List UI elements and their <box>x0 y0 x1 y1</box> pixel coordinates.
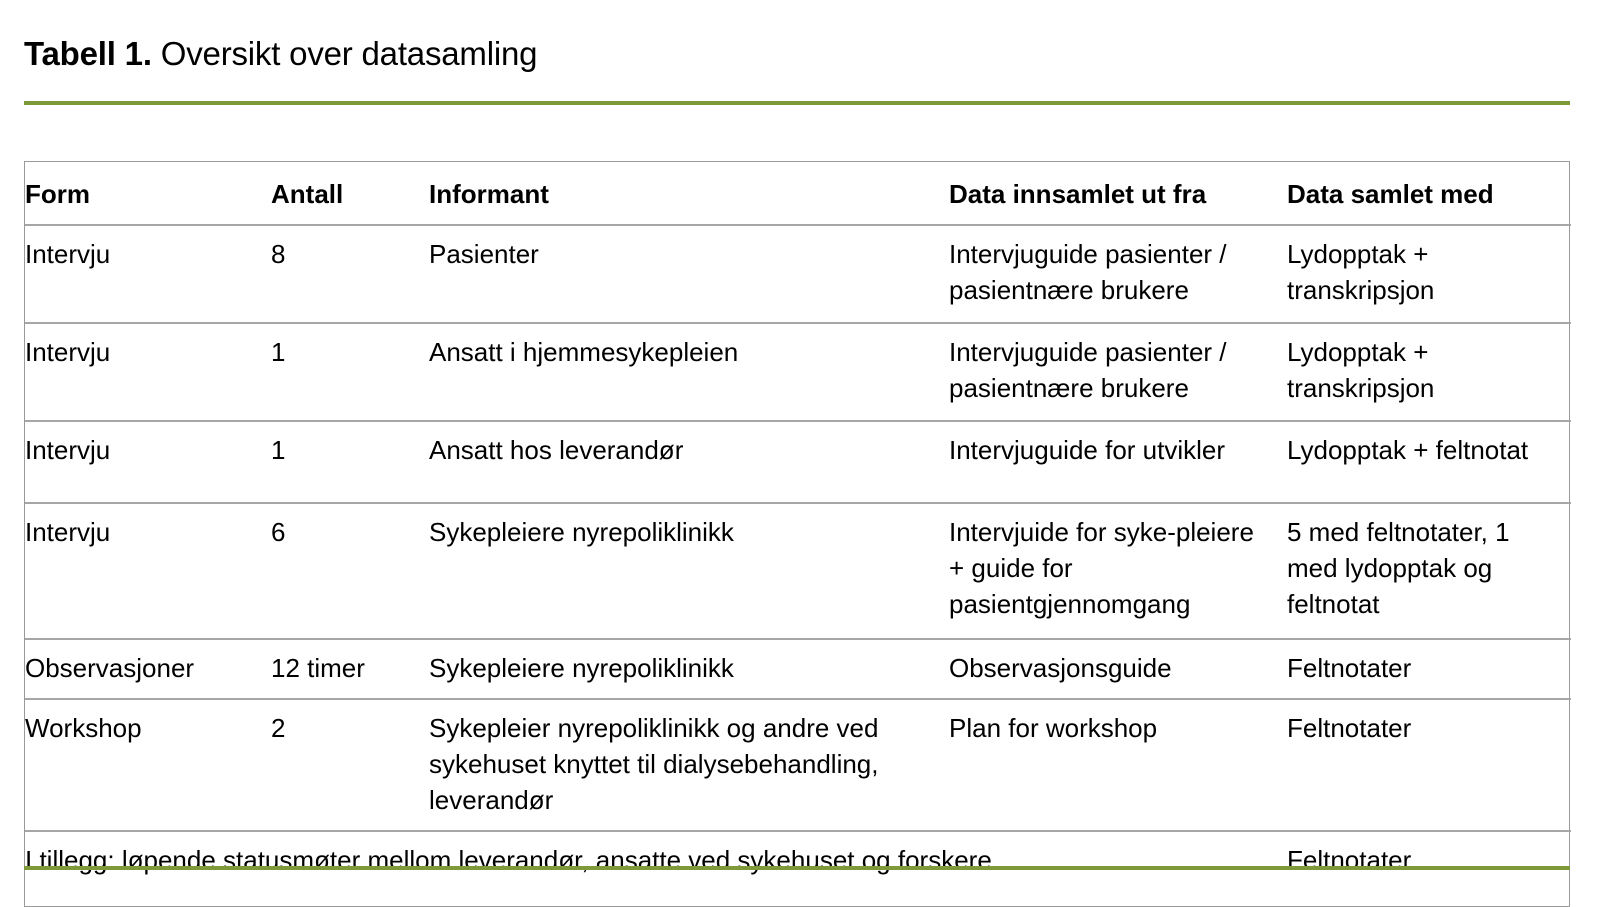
cell-kilde: Intervjuguide for utvikler <box>949 421 1287 503</box>
cell-metode: Lydopptak + transkripsjon <box>1287 225 1571 323</box>
cell-informant: Ansatt i hjemmesykepleien <box>429 323 949 421</box>
table-row: Intervju 6 Sykepleiere nyrepoliklinikk I… <box>25 503 1571 639</box>
cell-form: Workshop <box>25 699 271 831</box>
cell-kilde: Intervjuguide pasienter / pasientnære br… <box>949 323 1287 421</box>
cell-antall: 12 timer <box>271 639 429 699</box>
cell-form: Intervju <box>25 503 271 639</box>
column-header-form: Form <box>25 162 271 225</box>
cell-informant: Sykepleier nyrepoliklinikk og andre ved … <box>429 699 949 831</box>
table-page: Tabell 1. Oversikt over datasamling Form… <box>0 0 1600 904</box>
column-header-data-samlet-med: Data samlet med <box>1287 162 1571 225</box>
table-row: Intervju 8 Pasienter Intervjuguide pasie… <box>25 225 1571 323</box>
table-row: Intervju 1 Ansatt hos leverandør Intervj… <box>25 421 1571 503</box>
cell-metode: 5 med feltnotater, 1 med lydopptak og fe… <box>1287 503 1571 639</box>
bottom-divider-rule <box>24 866 1570 870</box>
cell-antall: 1 <box>271 323 429 421</box>
column-header-data-innsamlet-ut-fra: Data innsamlet ut fra <box>949 162 1287 225</box>
cell-antall: 8 <box>271 225 429 323</box>
caption-label: Tabell 1. <box>24 35 152 72</box>
caption-text: Oversikt over datasamling <box>152 35 537 72</box>
cell-kilde: Intervjuguide pasienter / pasientnære br… <box>949 225 1287 323</box>
cell-kilde: Plan for workshop <box>949 699 1287 831</box>
cell-metode: Feltnotater <box>1287 639 1571 699</box>
cell-form: Intervju <box>25 323 271 421</box>
top-divider-rule <box>24 101 1570 105</box>
cell-metode: Lydopptak + transkripsjon <box>1287 323 1571 421</box>
table-row: Workshop 2 Sykepleier nyrepoliklinikk og… <box>25 699 1571 831</box>
data-collection-table: Form Antall Informant Data innsamlet ut … <box>24 161 1570 907</box>
table-header-row: Form Antall Informant Data innsamlet ut … <box>25 162 1571 225</box>
cell-antall: 6 <box>271 503 429 639</box>
cell-antall: 2 <box>271 699 429 831</box>
cell-informant: Ansatt hos leverandør <box>429 421 949 503</box>
cell-form: Observasjoner <box>25 639 271 699</box>
cell-form: Intervju <box>25 421 271 503</box>
page-title: Tabell 1. Oversikt over datasamling <box>24 34 537 74</box>
cell-informant: Sykepleiere nyrepoliklinikk <box>429 503 949 639</box>
column-header-informant: Informant <box>429 162 949 225</box>
cell-metode: Lydopptak + feltnotat <box>1287 421 1571 503</box>
cell-informant: Pasienter <box>429 225 949 323</box>
column-header-antall: Antall <box>271 162 429 225</box>
cell-metode: Feltnotater <box>1287 699 1571 831</box>
cell-kilde: Intervjuide for syke-pleiere + guide for… <box>949 503 1287 639</box>
cell-kilde: Observasjonsguide <box>949 639 1287 699</box>
cell-form: Intervju <box>25 225 271 323</box>
table-row: Intervju 1 Ansatt i hjemmesykepleien Int… <box>25 323 1571 421</box>
cell-informant: Sykepleiere nyrepoliklinikk <box>429 639 949 699</box>
cell-antall: 1 <box>271 421 429 503</box>
table-row: Observasjoner 12 timer Sykepleiere nyrep… <box>25 639 1571 699</box>
